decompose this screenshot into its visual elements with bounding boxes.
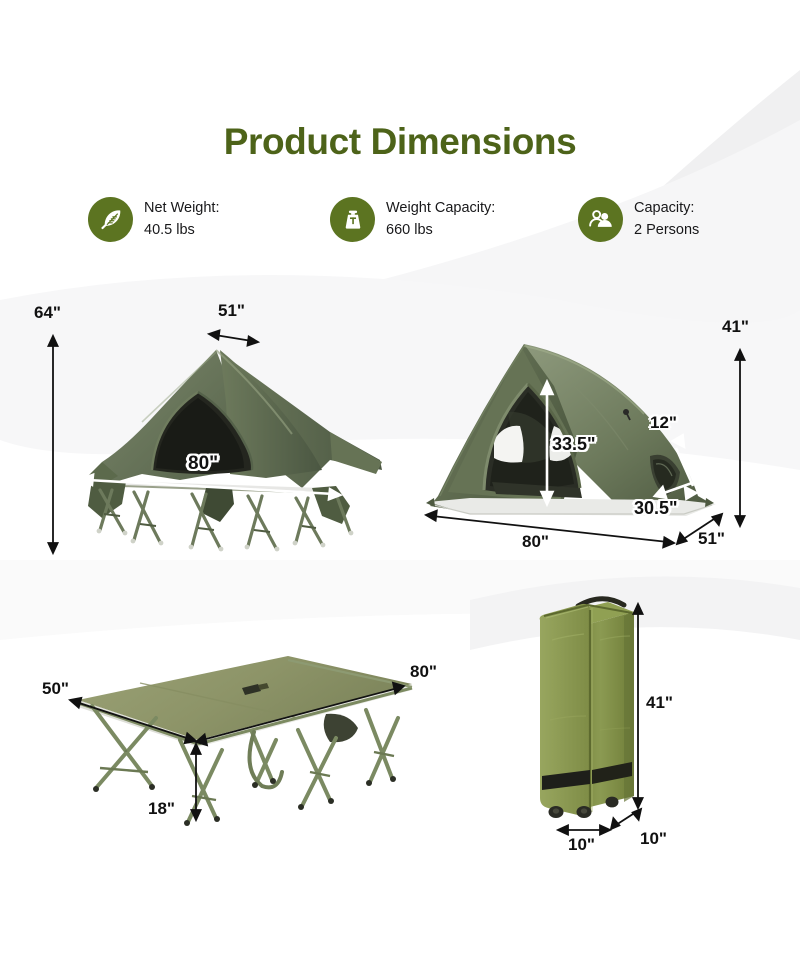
dimension-label-depth: 10" xyxy=(640,830,667,847)
badge-label-line2: 660 lbs xyxy=(386,220,495,241)
dimension-label-length: 80" xyxy=(522,533,549,550)
badge-net-weight: Net Weight: 40.5 lbs xyxy=(88,197,330,242)
badge-label-line1: Weight Capacity: xyxy=(386,198,495,219)
dimension-label-length: 80" xyxy=(410,663,437,680)
weight-icon xyxy=(340,207,366,233)
badge-label: Net Weight: 40.5 lbs xyxy=(144,198,220,240)
badge-weight-capacity: Weight Capacity: 660 lbs xyxy=(330,197,578,242)
dimension-label-width: 10" xyxy=(568,836,595,853)
page-title: Product Dimensions xyxy=(0,121,800,163)
dimension-label-width: 51" xyxy=(698,530,725,547)
product-image-carry-bag: 41" 10" 10" xyxy=(500,580,792,880)
feature-badges: Net Weight: 40.5 lbs Weight Capacity: 66… xyxy=(88,197,760,242)
people-icon xyxy=(587,206,614,233)
dimension-label-height: 64" xyxy=(34,304,61,321)
dimension-label-width: 50" xyxy=(42,680,69,697)
badge-label-line2: 2 Persons xyxy=(634,220,699,241)
dimension-label-peak-height: 41" xyxy=(722,318,749,335)
product-image-tent-cot-side-view: 64" 51" 80" xyxy=(30,292,410,582)
dimension-label-door-height: 33.5" xyxy=(552,435,596,453)
dimension-label-window-width: 12" xyxy=(650,414,677,431)
badge-icon-circle xyxy=(578,197,623,242)
badge-label-line2: 40.5 lbs xyxy=(144,220,220,241)
dimension-label-length: 80" xyxy=(188,454,218,473)
badge-label-line1: Net Weight: xyxy=(144,198,220,219)
badge-icon-circle xyxy=(330,197,375,242)
badge-icon-circle xyxy=(88,197,133,242)
badge-label: Capacity: 2 Persons xyxy=(634,198,699,240)
product-dimensions-infographic: Product Dimensions Net Weight: 40.5 lbs xyxy=(0,0,800,977)
badge-capacity: Capacity: 2 Persons xyxy=(578,197,760,242)
badge-label: Weight Capacity: 660 lbs xyxy=(386,198,495,240)
dimension-label-window-diagonal: 30.5" xyxy=(634,499,678,517)
dimension-label-width: 51" xyxy=(218,302,245,319)
dimension-label-height: 18" xyxy=(148,800,175,817)
product-image-folding-cot: 50" 80" 18" xyxy=(30,640,450,872)
feather-icon xyxy=(98,207,124,233)
dimension-label-height: 41" xyxy=(646,694,673,711)
badge-label-line1: Capacity: xyxy=(634,198,699,219)
product-image-tent-ground-front-view: 41" 33.5" 12" 30.5" 80" 51" xyxy=(412,300,790,572)
